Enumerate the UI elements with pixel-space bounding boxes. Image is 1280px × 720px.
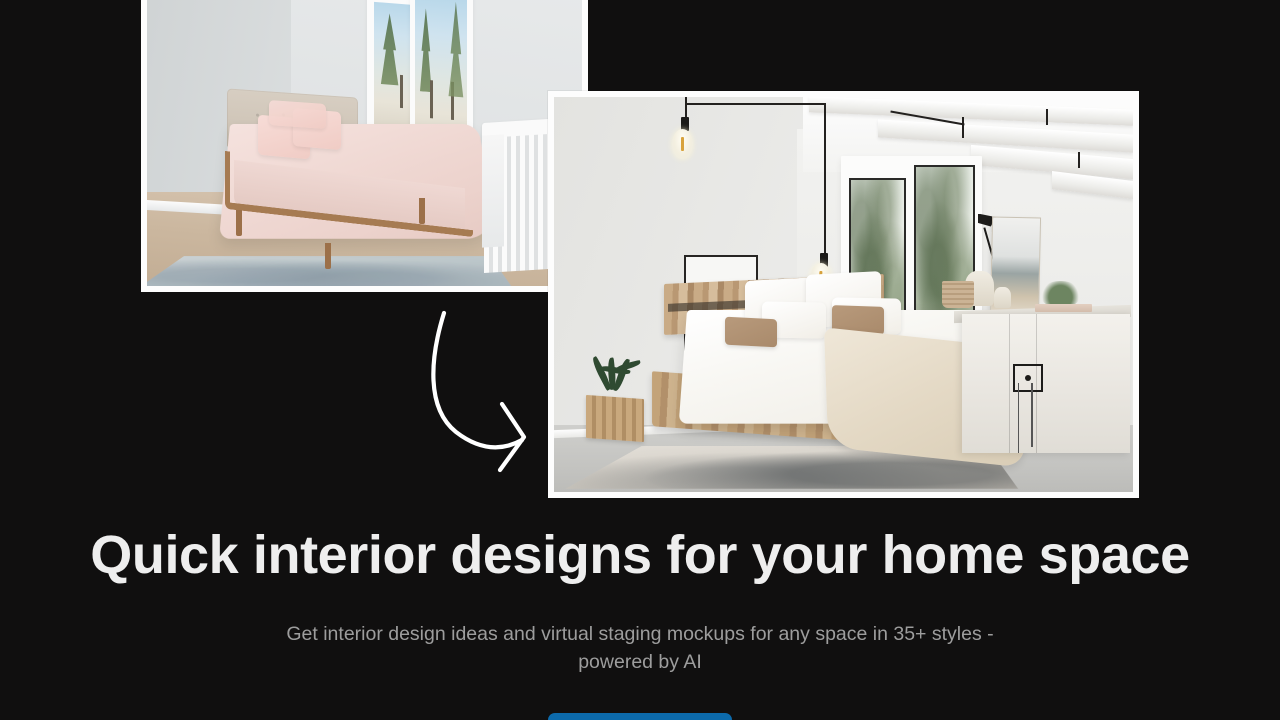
after-photo — [554, 97, 1133, 492]
tree-trunk — [430, 80, 433, 119]
curved-arrow-icon — [424, 300, 544, 490]
before-photo — [147, 0, 582, 286]
stacked-books — [1035, 304, 1093, 312]
bed-leg — [236, 210, 242, 236]
crib-end-panel — [482, 134, 504, 247]
hero-section: Quick interior designs for your home spa… — [0, 0, 1280, 720]
woven-basket — [942, 281, 974, 309]
tree-trunk — [451, 82, 454, 121]
pillow — [269, 100, 326, 129]
page-subtitle: Get interior design ideas and virtual st… — [260, 620, 1020, 676]
get-started-button[interactable]: Get started — [548, 713, 732, 720]
bed-leg — [419, 198, 425, 224]
area-rug — [147, 257, 521, 286]
page-title: Quick interior designs for your home spa… — [0, 524, 1280, 586]
tree-trunk — [399, 75, 402, 108]
ceiling-wire — [1046, 109, 1048, 125]
pendant-cord — [824, 103, 826, 261]
accent-cushion — [725, 317, 777, 347]
concrete-cabinet — [962, 314, 1130, 452]
ceiling-wire — [962, 117, 964, 139]
pendant-ceiling-wire — [686, 103, 825, 105]
small-jar — [994, 287, 1011, 309]
ceiling-wire — [1078, 152, 1080, 168]
snake-plant — [577, 350, 652, 405]
before-photo-frame[interactable] — [141, 0, 588, 292]
edison-bulb — [672, 129, 693, 159]
bed-leg — [325, 243, 331, 269]
after-photo-frame[interactable] — [548, 91, 1139, 498]
